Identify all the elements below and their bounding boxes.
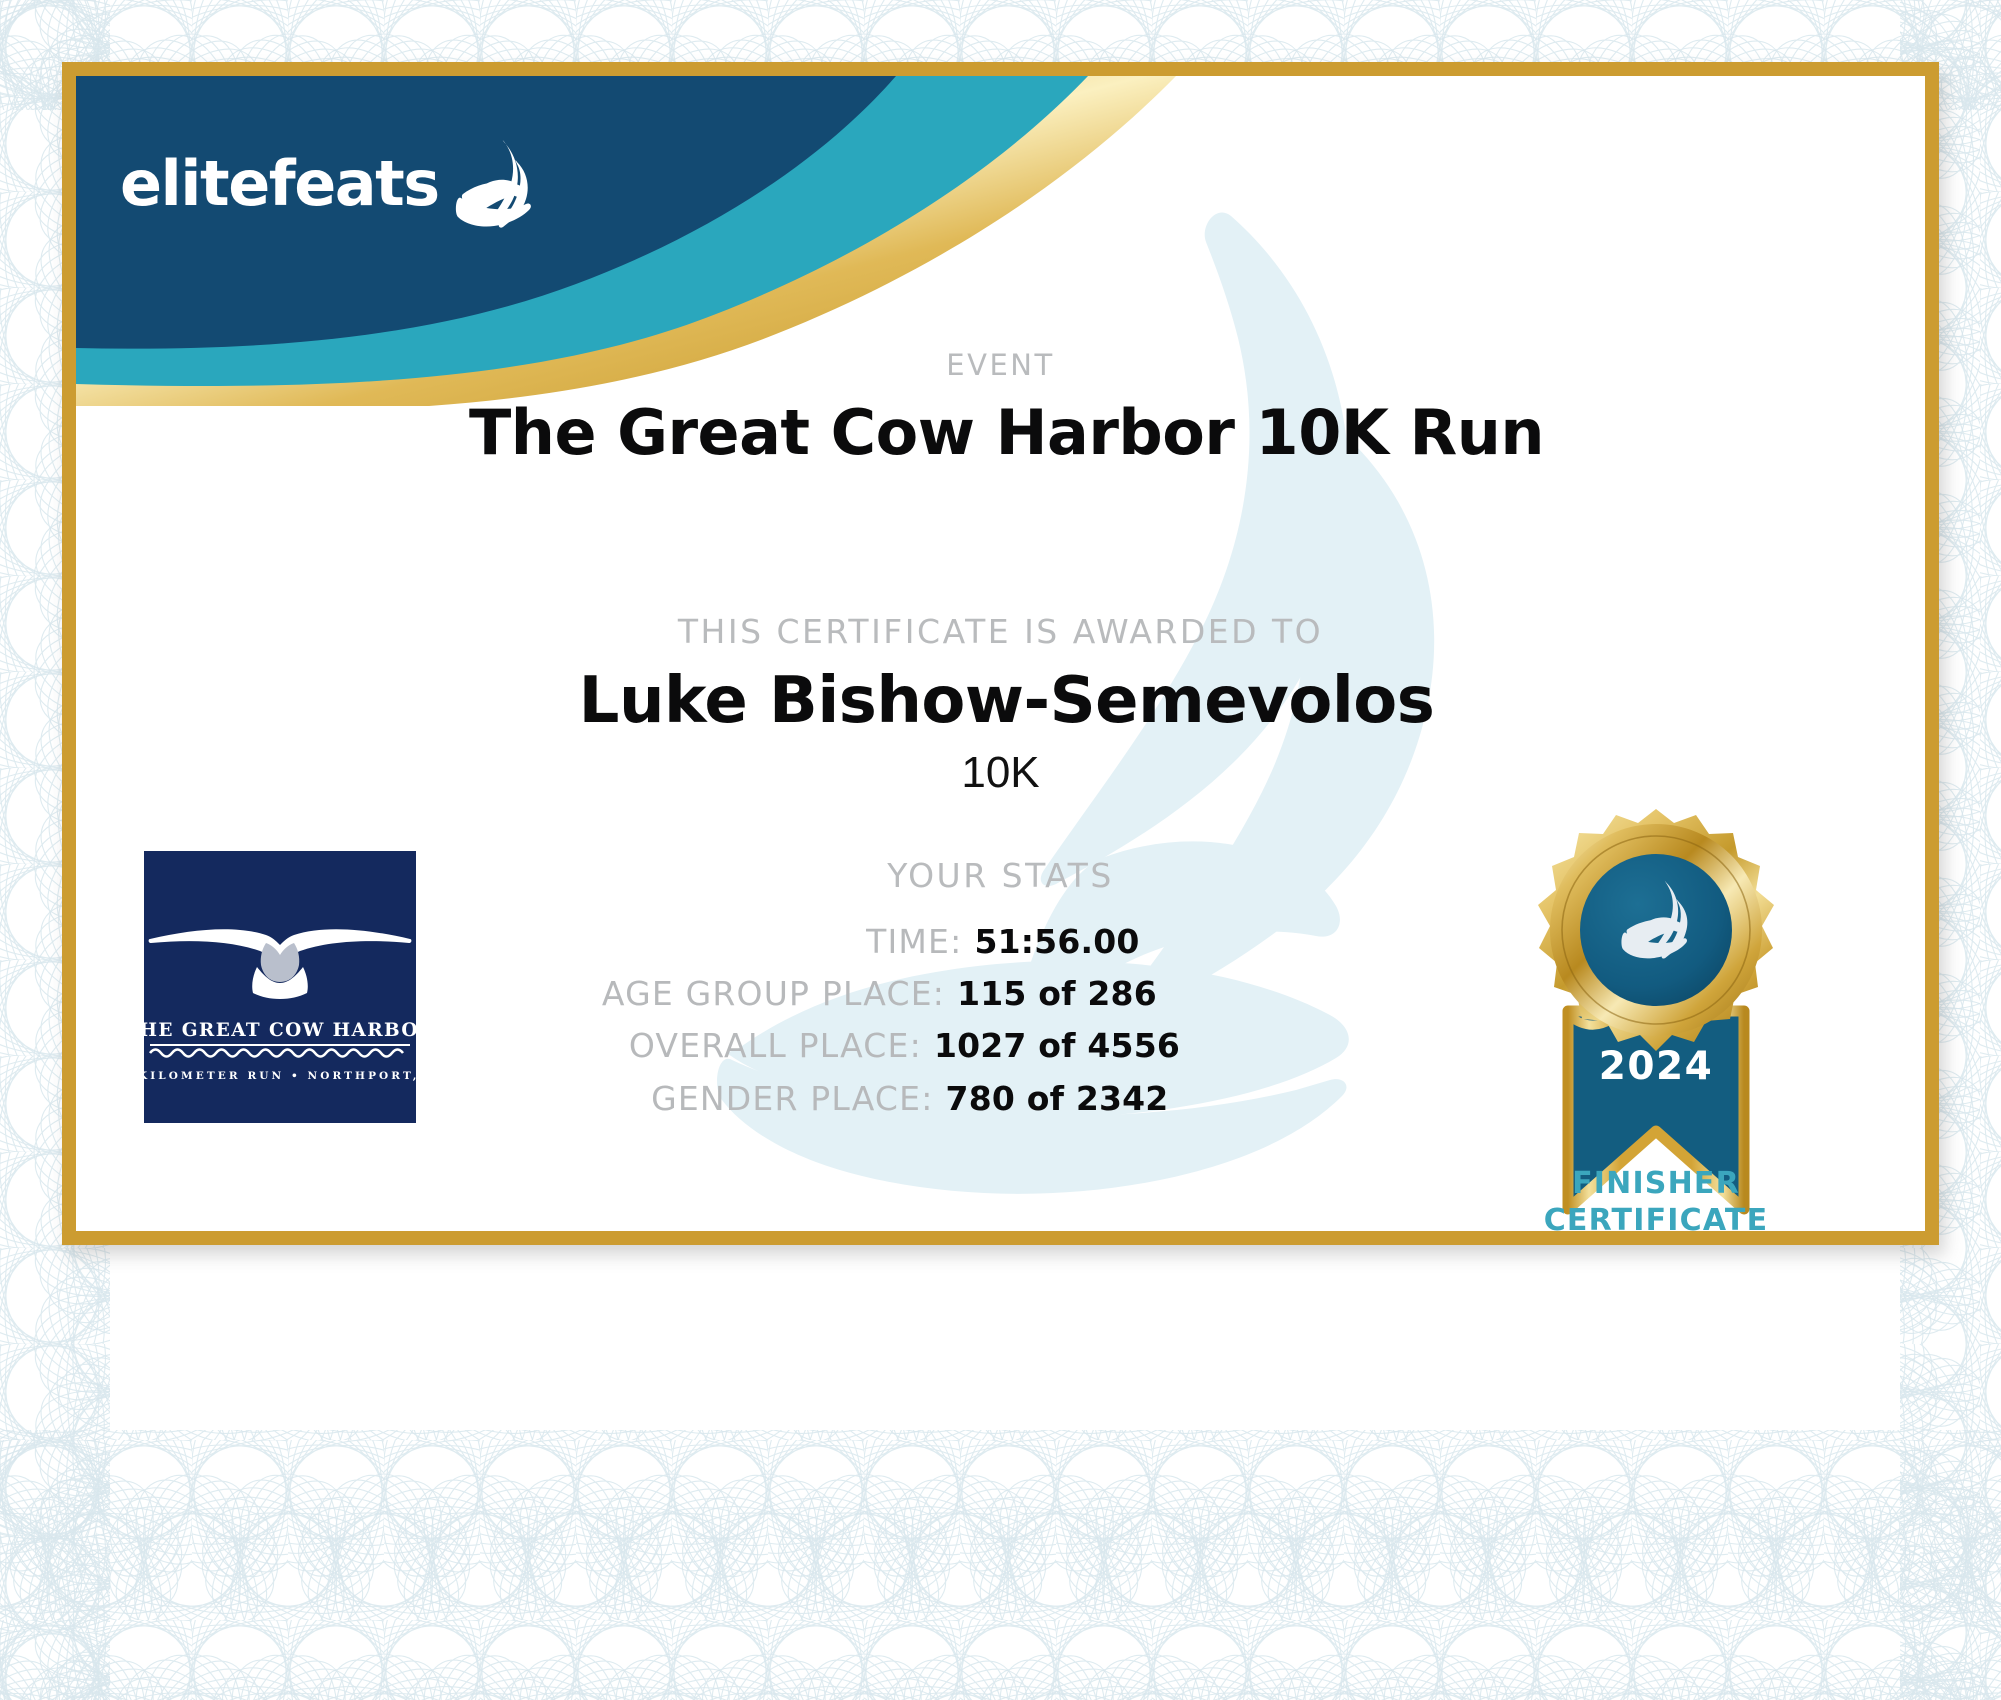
event-title: The Great Cow Harbor 10K Run: [82, 396, 1925, 469]
medal-caption-line2: CERTIFICATE: [1486, 1203, 1826, 1231]
race-logo: THE GREAT COW HARBOR 10 KILOMETER RUN • …: [144, 851, 416, 1123]
medal-caption-line1: FINISHER: [1486, 1166, 1826, 1203]
brand-wordmark: elitefeats: [120, 153, 439, 215]
stat-value: 115 of 286: [945, 973, 1157, 1015]
stat-value: 1027 of 4556: [922, 1025, 1180, 1067]
brand-logo: elitefeats: [120, 138, 531, 230]
medal-caption: FINISHER CERTIFICATE: [1486, 1166, 1826, 1231]
stat-label: OVERALL PLACE:: [362, 1025, 922, 1067]
certificate-body: elitefeats EVENT The Great Cow Harbor 10…: [76, 76, 1925, 1231]
athlete-name: Luke Bishow-Semevolos: [82, 664, 1925, 738]
distance-label: 10K: [76, 748, 1925, 798]
certificate-frame: elitefeats EVENT The Great Cow Harbor 10…: [62, 62, 1939, 1245]
stat-label: AGE GROUP PLACE:: [385, 973, 945, 1015]
stat-value: 780 of 2342: [934, 1078, 1169, 1120]
awarded-caption: THIS CERTIFICATE IS AWARDED TO: [76, 612, 1925, 651]
stat-value: 51:56.00: [962, 921, 1139, 963]
svg-text:10 KILOMETER RUN • NORTHPORT: 10 KILOMETER RUN • NORTHPORT, NY: [144, 1070, 416, 1082]
svg-text:THE GREAT COW HARBOR: THE GREAT COW HARBOR: [144, 1020, 416, 1041]
stat-label: TIME:: [402, 921, 962, 963]
certificate-page: elitefeats EVENT The Great Cow Harbor 10…: [0, 0, 2001, 1700]
winged-foot-icon: [445, 138, 531, 230]
event-caption: EVENT: [76, 348, 1925, 382]
stat-label: GENDER PLACE:: [374, 1078, 934, 1120]
